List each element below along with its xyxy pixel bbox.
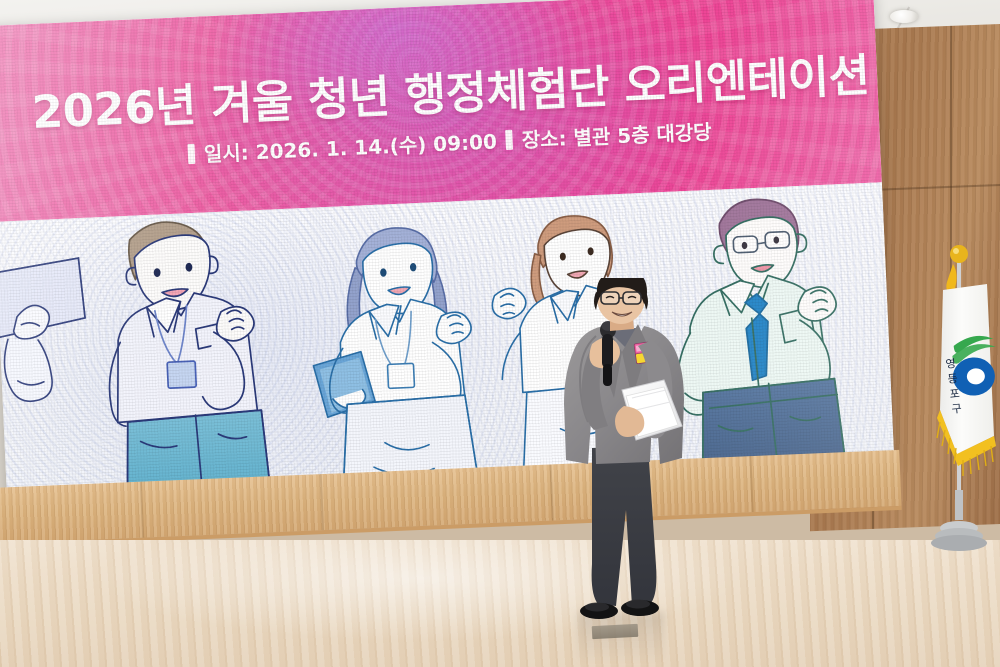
speaker-trousers <box>592 446 657 606</box>
led-presentation-screen: 2026년 겨울 청년 행정체험단 오리엔테이션 일시: 2026. 1. 14… <box>0 0 895 508</box>
character-man-tie <box>670 196 847 482</box>
downlight-icon <box>890 10 918 23</box>
character-left-partial <box>0 258 89 404</box>
flag-text-1: 영 <box>945 357 956 371</box>
floor-access-plate <box>592 624 639 639</box>
character-woman-tablet <box>307 225 478 494</box>
auditorium-photo: 2026년 겨울 청년 행정체험단 오리엔테이션 일시: 2026. 1. 14… <box>0 0 1000 667</box>
bullet-tick-icon <box>187 143 195 163</box>
flag-finial-icon <box>950 245 968 263</box>
flag-text-2: 등 <box>947 372 958 386</box>
flag-text-4: 구 <box>951 402 962 416</box>
speaker-person <box>552 278 692 623</box>
flag-text-3: 포 <box>949 387 960 401</box>
district-flag: 영 등 포 구 <box>918 240 1000 570</box>
bullet-tick-icon <box>505 129 513 149</box>
floor-glare <box>0 540 1000 667</box>
character-man-lanyard <box>102 218 271 507</box>
